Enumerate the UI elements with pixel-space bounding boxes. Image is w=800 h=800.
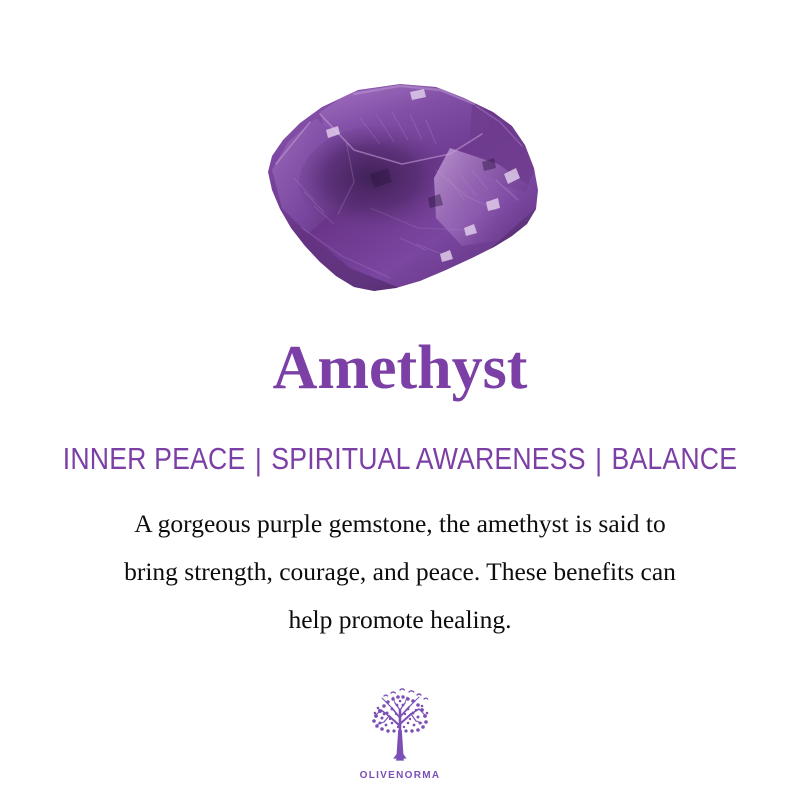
keyword-separator: |	[255, 442, 262, 479]
description-text: A gorgeous purple gemstone, the amethyst…	[50, 500, 750, 644]
description-line: A gorgeous purple gemstone, the amethyst…	[50, 500, 750, 548]
page-title: Amethyst	[0, 336, 800, 401]
keyword-balance: BALANCE	[612, 441, 738, 476]
keyword-inner-peace: INNER PEACE	[63, 441, 246, 476]
description-line: bring strength, courage, and peace. Thes…	[50, 548, 750, 596]
amethyst-gemstone-image	[0, 78, 800, 303]
description-line: help promote healing.	[50, 596, 750, 644]
amethyst-crystal-illustration	[250, 78, 550, 303]
keyword-line: INNER PEACE|SPIRITUAL AWARENESS|BALANCE	[56, 441, 744, 478]
amethyst-info-card: Amethyst INNER PEACE|SPIRITUAL AWARENESS…	[0, 0, 800, 800]
keyword-spiritual-awareness: SPIRITUAL AWARENESS	[271, 441, 585, 476]
brand-logo: OLIVENORMA	[0, 686, 800, 781]
brand-wordmark: OLIVENORMA	[360, 770, 441, 781]
keyword-separator: |	[595, 442, 602, 479]
olive-tree-logo-icon	[362, 686, 438, 766]
